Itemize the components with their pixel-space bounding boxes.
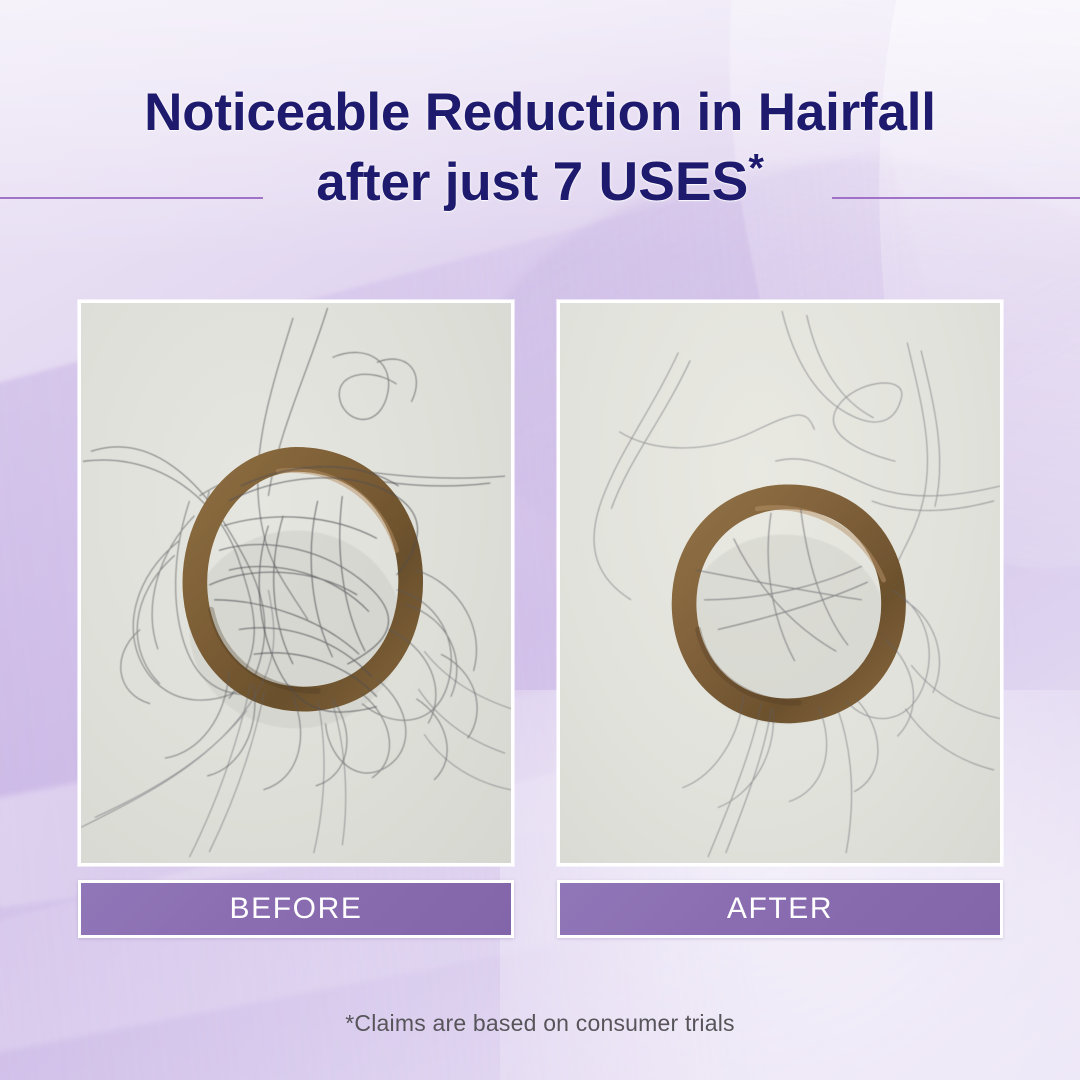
headline-line-2: after just 7 USES*: [0, 149, 1080, 215]
before-photo-artwork: [81, 303, 511, 863]
promo-canvas: Noticeable Reduction in Hairfall after j…: [0, 0, 1080, 1080]
after-label-text: AFTER: [727, 892, 833, 926]
after-photo: [557, 300, 1003, 866]
page-title: Noticeable Reduction in Hairfall after j…: [0, 82, 1080, 214]
headline-line-2-prefix: after just: [316, 153, 552, 212]
after-photo-artwork: [560, 303, 1000, 863]
before-label-text: BEFORE: [230, 892, 363, 926]
after-label-box: AFTER: [557, 880, 1003, 938]
footnote-disclaimer: *Claims are based on consumer trials: [0, 1010, 1080, 1037]
before-label-box: BEFORE: [78, 880, 514, 938]
headline-line-1: Noticeable Reduction in Hairfall: [0, 82, 1080, 145]
headline-emphasis-7-uses: 7 USES: [553, 150, 749, 212]
headline-asterisk: *: [748, 146, 763, 190]
before-photo: [78, 300, 514, 866]
